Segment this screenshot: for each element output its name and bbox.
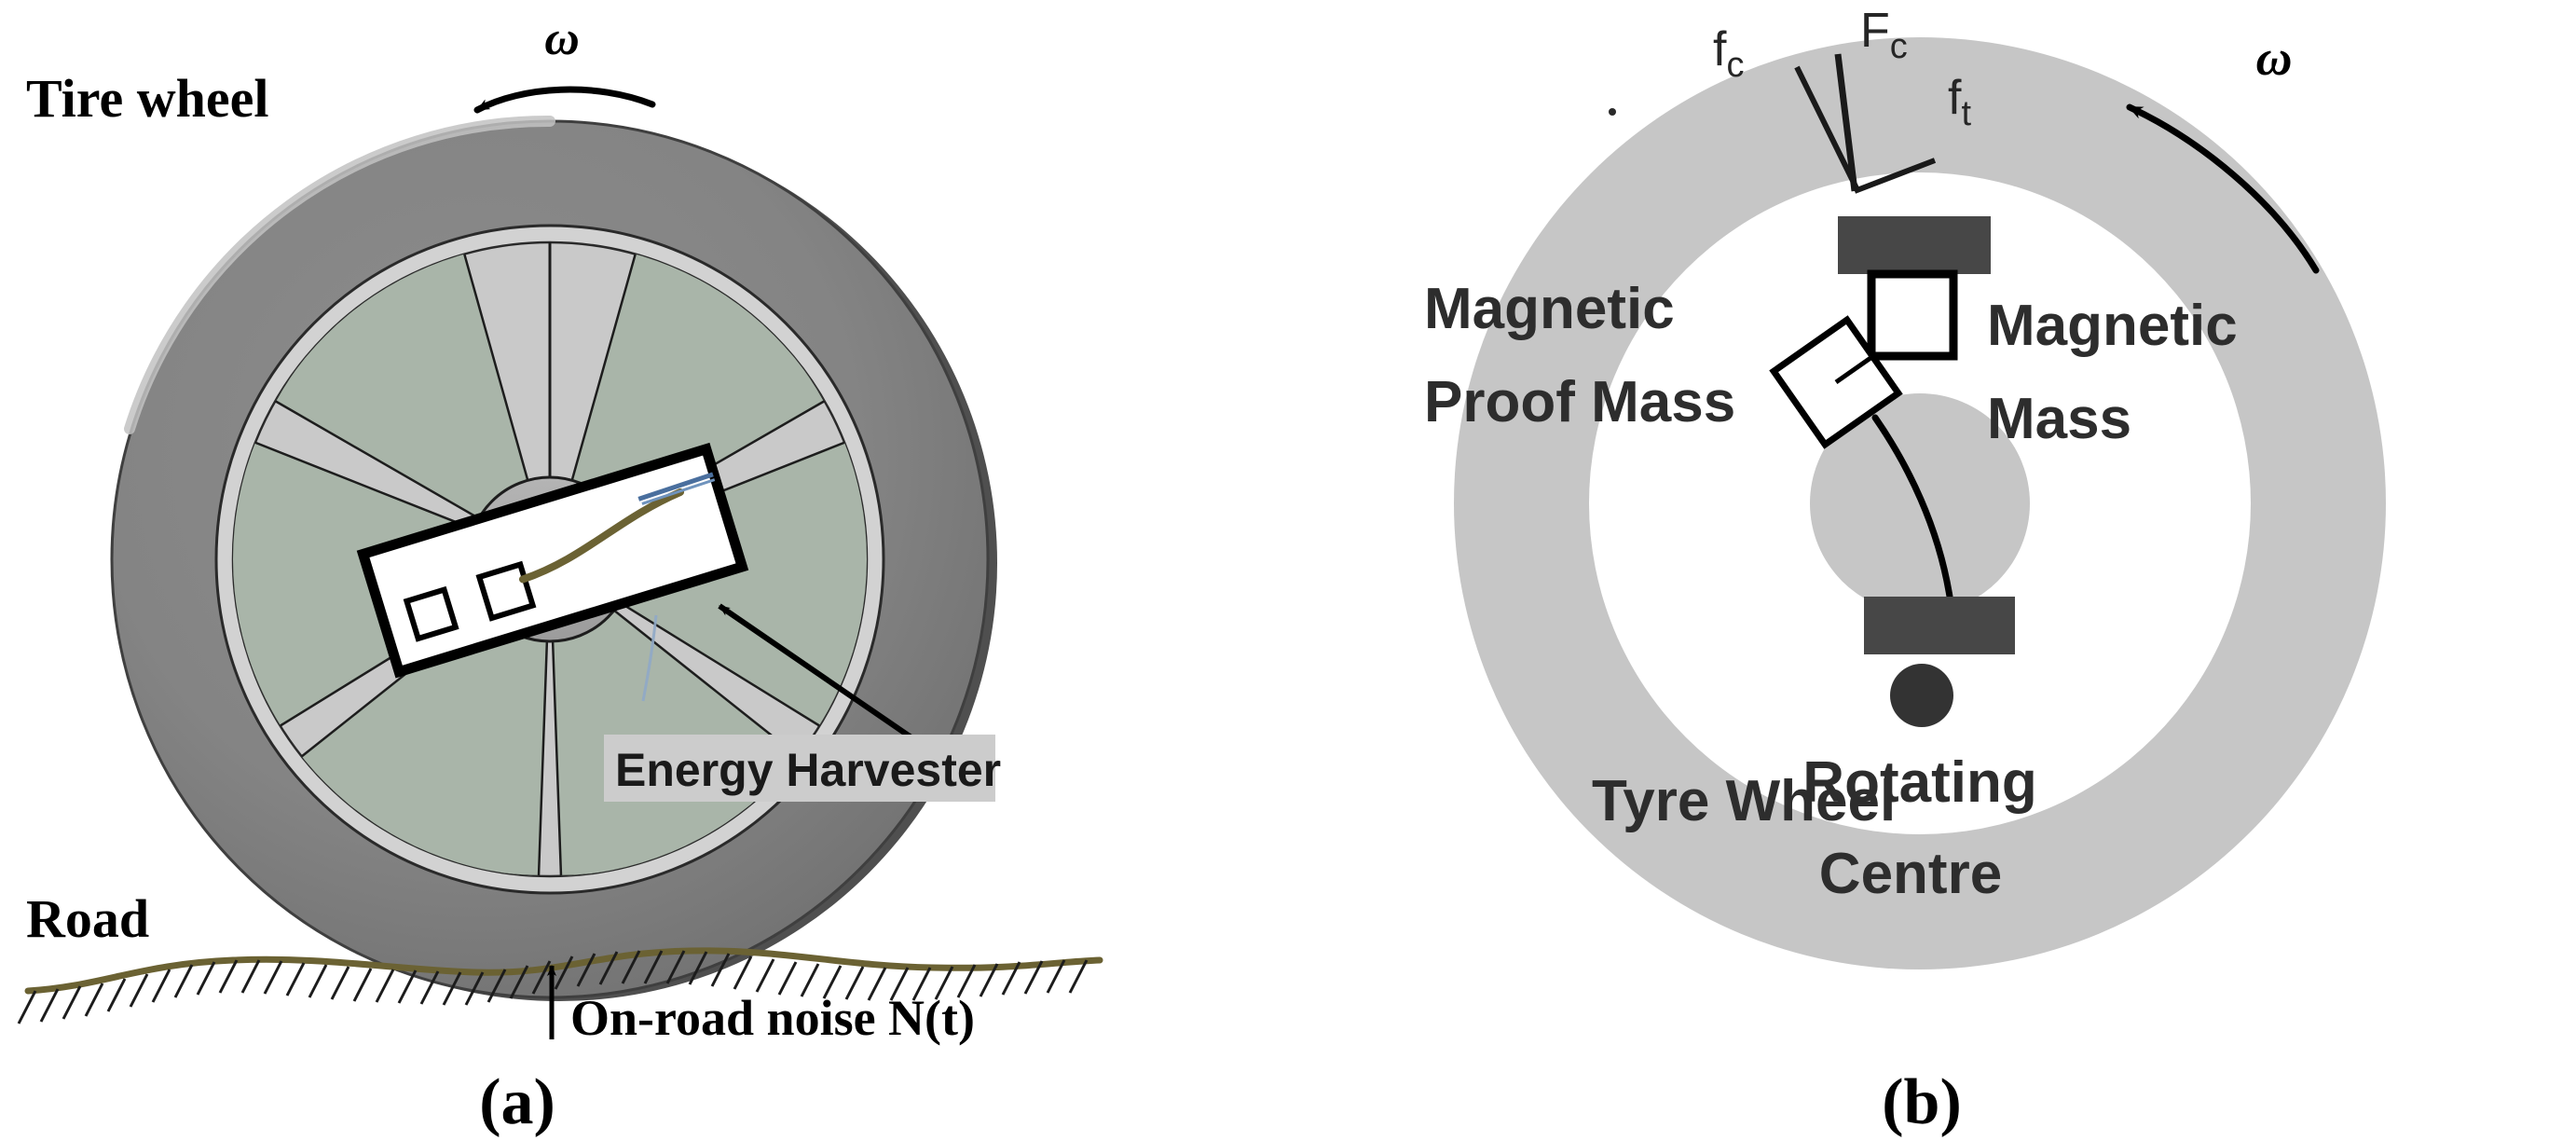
panel-b-svg: ω fc Fc ft — [1305, 0, 2576, 1141]
harvester-anchor-square — [406, 590, 455, 639]
panel-a-wheel-with-harvester: ω — [0, 0, 1305, 1141]
magnetic-mass-label-line2: Mass — [1987, 387, 2131, 451]
panel-a-svg: ω — [0, 0, 1305, 1141]
omega-label-b: ω — [2255, 30, 2292, 86]
panel-b-caption: (b) — [1882, 1066, 1962, 1138]
energy-harvester-label: Energy Harvester — [615, 744, 1001, 796]
annulus-dot-marker — [1609, 108, 1616, 116]
force-fc-label: fc — [1713, 22, 1744, 85]
rotating-centre-label-line2: Centre — [1819, 842, 2002, 906]
magnetic-mass-label-line1: Magnetic — [1987, 294, 2238, 358]
magnetic-proof-mass-label-line1: Magnetic — [1424, 277, 1675, 341]
rotating-centre-pivot-dot — [1890, 664, 1953, 727]
road-label: Road — [26, 888, 149, 949]
panel-a-caption: (a) — [479, 1066, 555, 1138]
panel-b-rotating-frame-forces: ω fc Fc ft — [1305, 0, 2576, 1141]
magnetic-proof-mass-label-line2: Proof Mass — [1424, 370, 1735, 434]
force-Fc-label: Fc — [1860, 4, 1908, 66]
tire-wheel-label: Tire wheel — [26, 68, 268, 129]
omega-label-a: ω — [544, 12, 580, 65]
rotating-centre-base-block — [1864, 597, 2015, 654]
omega-rotation-arrow-a — [477, 89, 652, 110]
magnetic-mass-square — [1871, 274, 1953, 356]
magnetic-mass-mounting-bar — [1838, 216, 1991, 274]
tyre-wheel-label: Tyre Wheel — [1592, 769, 1896, 833]
figure-root: ω — [0, 0, 2576, 1141]
harvester-proof-mass-square — [479, 565, 532, 618]
on-road-noise-label: On-road noise N(t) — [570, 990, 975, 1046]
